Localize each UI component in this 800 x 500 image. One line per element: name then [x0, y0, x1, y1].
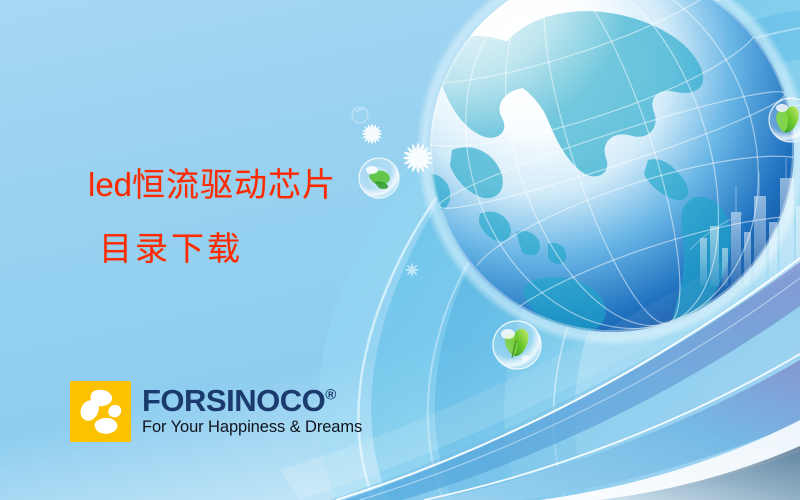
- logo-text-block: FORSINOCO® For Your Happiness & Dreams: [142, 385, 362, 437]
- logo-tagline: For Your Happiness & Dreams: [142, 418, 362, 437]
- bubble-leaf: [493, 321, 541, 369]
- logo-wordmark: FORSINOCO®: [142, 385, 362, 416]
- banner-canvas: led恒流驱动芯片 目录下载 FORSINOCO® For Your Happi…: [0, 0, 800, 500]
- headline-block: led恒流驱动芯片 目录下载: [88, 168, 336, 267]
- headline-latin: led: [88, 166, 132, 203]
- headline-line-2: 目录下载: [99, 234, 336, 267]
- registered-trademark-symbol: ®: [325, 387, 336, 404]
- logo-wordmark-text: FORSINOCO: [142, 383, 325, 418]
- headline-cjk: 恒流驱动芯片: [132, 168, 336, 204]
- headline-line-1: led恒流驱动芯片: [88, 168, 336, 203]
- company-logo[interactable]: FORSINOCO® For Your Happiness & Dreams: [70, 381, 362, 442]
- four-petal-flower-mark: [70, 381, 131, 442]
- flower-petals-icon: [70, 381, 131, 442]
- bubble-globe-small: [359, 158, 399, 198]
